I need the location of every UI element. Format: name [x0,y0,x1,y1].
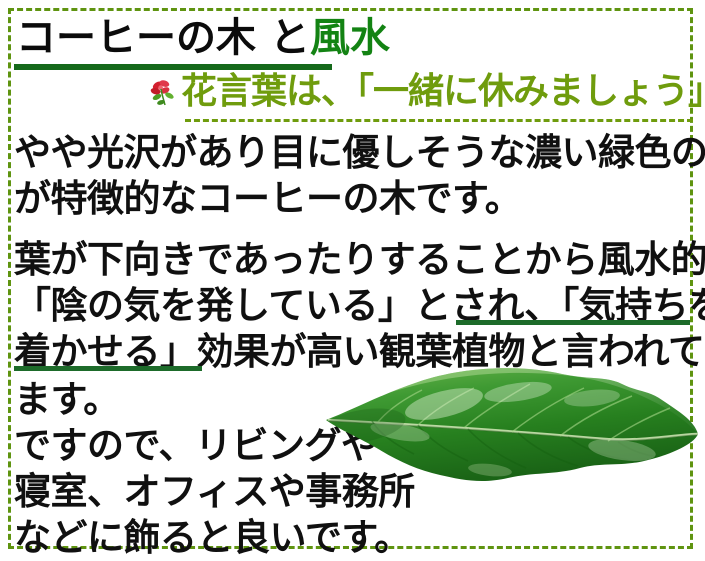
info-card: コーヒーの木 と風水 花言葉は、「一緒に休みましょう」 やや光沢があ [0,0,705,561]
flower-icon [146,75,180,109]
paragraph-appearance: やや光沢があり目に優しそうな濃い緑色の葉 が特徴的なコーヒーの木です。 [14,130,705,222]
hanakotoba-separator [185,119,693,122]
paragraph-line: やや光沢があり目に優しそうな濃い緑色の葉 [14,130,705,176]
page-title: コーヒーの木 と風水 [16,18,390,58]
hanakotoba-line: 花言葉は、「一緒に休みましょう」 [146,74,705,110]
page-title-green: 風水 [310,15,390,61]
emphasis-underline-part2 [14,366,202,371]
hanakotoba-text: 花言葉は、「一緒に休みましょう」 [181,74,705,110]
paragraph-line: が特徴的なコーヒーの木です。 [14,176,705,222]
paragraph-line: 葉が下向きであったりすることから風水的には [14,237,705,283]
paragraph-fengshui: 葉が下向きであったりすることから風水的には 「陰の気を発している」とされ、「気持… [14,237,705,375]
paragraph-line: などに飾ると良いです。 [14,515,415,561]
coffee-leaf-photo [322,358,702,508]
page-title-black: コーヒーの木 と [16,15,310,61]
title-underline-rule [14,64,332,70]
emphasis-underline-part1 [456,320,690,325]
